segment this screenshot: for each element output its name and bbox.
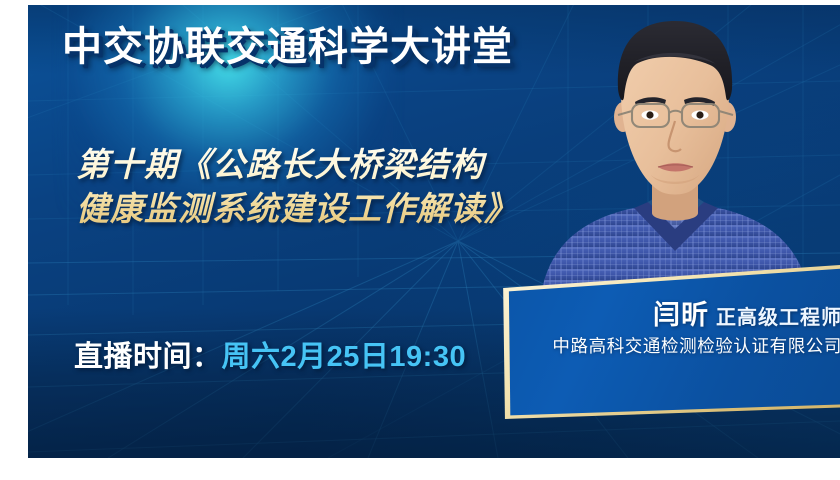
speaker-organization: 中路高科交通检测检验认证有限公司 [552,333,840,358]
episode-subtitle: 第十期《公路长大桥梁结构 健康监测系统建设工作解读》 [76,143,596,230]
poster-root: 中交协联交通科学大讲堂 第十期《公路长大桥梁结构 健康监测系统建设工作解读》 直… [0,0,840,480]
plate-text-layer: 闫昕正高级工程师 中路高科交通检测检验认证有限公司 [496,263,840,458]
speaker-info-plate: 闫昕正高级工程师 中路高科交通检测检验认证有限公司 [496,263,840,458]
speaker-name-row: 闫昕正高级工程师 [653,293,840,332]
episode-subtitle-line-2: 健康监测系统建设工作解读》 [76,187,596,231]
live-time-value: 周六2月25日19:30 [222,341,467,373]
live-time-label: 直播时间： [74,341,222,373]
live-time-row: 直播时间：周六2月25日19:30 [74,333,466,375]
episode-subtitle-line-1: 第十期《公路长大桥梁结构 [76,143,596,187]
speaker-name: 闫昕 [653,300,709,330]
poster-stage: 中交协联交通科学大讲堂 第十期《公路长大桥梁结构 健康监测系统建设工作解读》 直… [28,5,840,458]
speaker-title: 正高级工程师 [716,307,840,329]
page-title: 中交协联交通科学大讲堂 [62,27,513,67]
